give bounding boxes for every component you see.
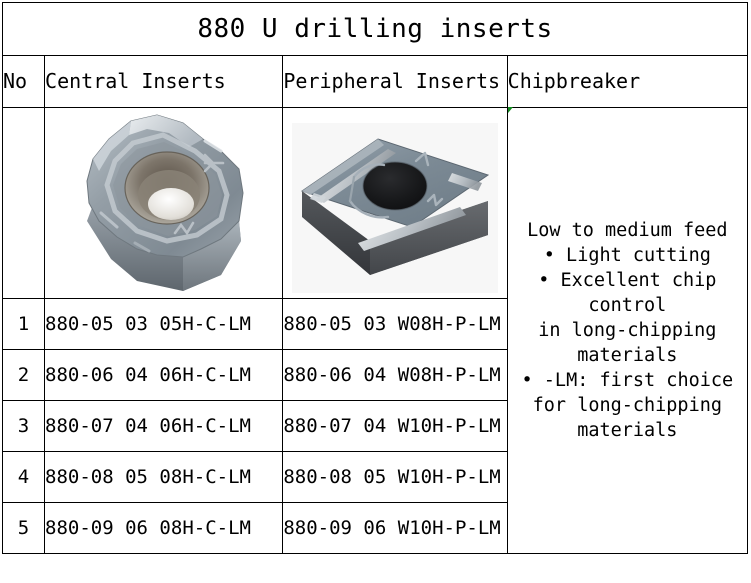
peripheral-insert-code: 880-05 03 W08H-P-LM: [283, 299, 507, 350]
central-insert-code: 880-05 03 05H-C-LM: [45, 299, 283, 350]
inserts-spec-table: 880 U drilling inserts No Central Insert…: [2, 2, 748, 554]
column-header-central-inserts: Central Inserts: [45, 56, 283, 108]
peripheral-insert-code: 880-09 06 W10H-P-LM: [283, 503, 507, 554]
peripheral-insert-image-cell: [283, 108, 507, 299]
central-insert-photo: [71, 109, 257, 297]
table-header-row: No Central Inserts Peripheral Inserts Ch…: [3, 56, 748, 108]
central-insert-code: 880-06 04 06H-C-LM: [45, 350, 283, 401]
central-insert-image-cell: [45, 108, 283, 299]
row-number: 1: [3, 299, 45, 350]
chipbreaker-line: • -LM: first choice: [508, 368, 747, 393]
page-title: 880 U drilling inserts: [3, 3, 748, 56]
central-insert-code: 880-08 05 08H-C-LM: [45, 452, 283, 503]
green-corner-marker-icon: [508, 107, 513, 113]
chipbreaker-line: materials: [508, 343, 747, 368]
row-number: 3: [3, 401, 45, 452]
column-header-peripheral-inserts: Peripheral Inserts: [283, 56, 507, 108]
chipbreaker-line: • Excellent chip: [508, 268, 747, 293]
insert-image-row: Low to medium feed • Light cutting • Exc…: [3, 108, 748, 299]
column-header-no: No: [3, 56, 45, 108]
central-insert-illustration: [71, 109, 257, 297]
chipbreaker-line: materials: [508, 418, 747, 443]
image-row-no-cell: [3, 108, 45, 299]
peripheral-insert-code: 880-06 04 W08H-P-LM: [283, 350, 507, 401]
chipbreaker-description-cell: Low to medium feed • Light cutting • Exc…: [507, 108, 747, 554]
spec-table-page: 880 U drilling inserts No Central Insert…: [0, 2, 751, 583]
row-number: 4: [3, 452, 45, 503]
peripheral-insert-code: 880-07 04 W10H-P-LM: [283, 401, 507, 452]
column-header-chipbreaker-label: Chipbreaker: [508, 69, 640, 93]
peripheral-insert-photo: [292, 123, 498, 293]
chipbreaker-line: for long-chipping: [508, 393, 747, 418]
row-number: 5: [3, 503, 45, 554]
chipbreaker-line: • Light cutting: [508, 243, 747, 268]
central-insert-code: 880-07 04 06H-C-LM: [45, 401, 283, 452]
peripheral-insert-code: 880-08 05 W10H-P-LM: [283, 452, 507, 503]
central-insert-bore-bottom: [148, 188, 194, 220]
chipbreaker-line: in long-chipping: [508, 318, 747, 343]
chipbreaker-line: control: [508, 293, 747, 318]
central-insert-code: 880-09 06 08H-C-LM: [45, 503, 283, 554]
table-title-row: 880 U drilling inserts: [3, 3, 748, 56]
row-number: 2: [3, 350, 45, 401]
column-header-chipbreaker: Chipbreaker: [507, 56, 747, 108]
peripheral-insert-illustration: [292, 123, 498, 293]
chipbreaker-line: Low to medium feed: [508, 218, 747, 243]
